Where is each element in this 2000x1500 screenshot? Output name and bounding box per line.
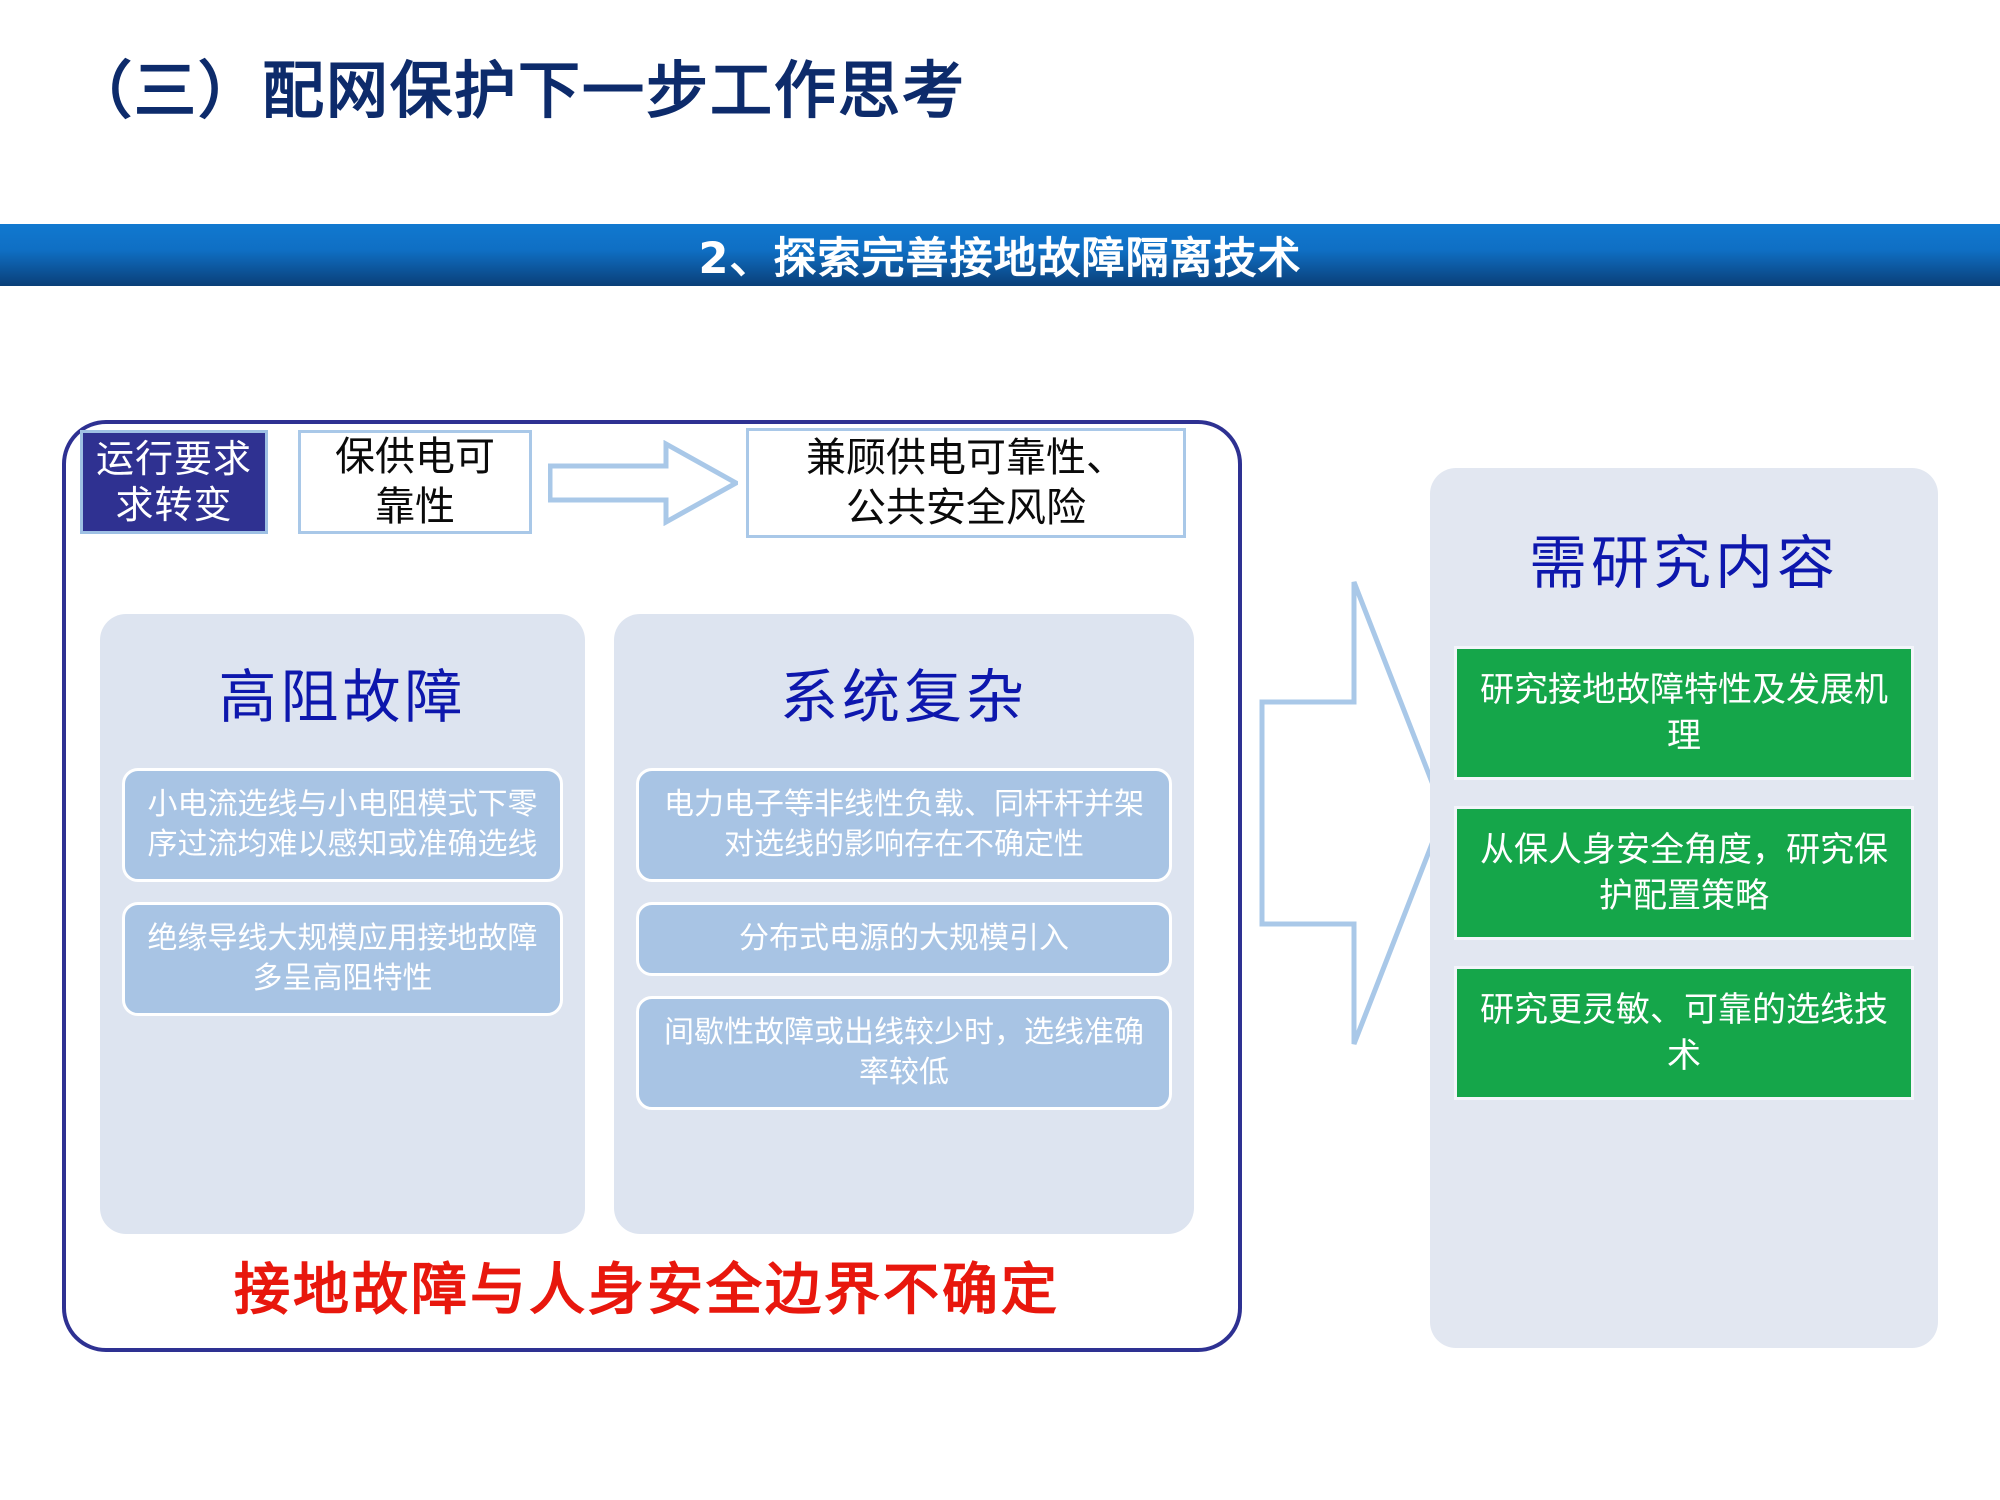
list-item: 小电流选线与小电阻模式下零序过流均难以感知或准确选线: [122, 768, 563, 882]
flow-target-box: 兼顾供电可靠性、 公共安全风险: [746, 428, 1186, 538]
list-item: 分布式电源的大规模引入: [636, 902, 1172, 976]
list-item: 间歇性故障或出线较少时，选线准确率较低: [636, 996, 1172, 1110]
section-banner-title: 2、探索完善接地故障隔离技术: [699, 224, 1302, 286]
research-content-items: 研究接地故障特性及发展机理 从保人身安全角度，研究保护配置策略 研究更灵敏、可靠…: [1430, 646, 1938, 1100]
operation-requirement-tag-line1: 运行要求: [96, 436, 252, 482]
conclusion-text: 接地故障与人身安全边界不确定: [100, 1244, 1194, 1326]
list-item: 绝缘导线大规模应用接地故障多呈高阻特性: [122, 902, 563, 1016]
section-banner: 2、探索完善接地故障隔离技术: [0, 224, 2000, 286]
flow-source-box: 保供电可 靠性: [298, 430, 532, 534]
research-content-container: 需研究内容 研究接地故障特性及发展机理 从保人身安全角度，研究保护配置策略 研究…: [1430, 468, 1938, 1348]
right-arrow-icon: [548, 440, 738, 526]
panel-high-impedance-fault: 高阻故障 小电流选线与小电阻模式下零序过流均难以感知或准确选线 绝缘导线大规模应…: [100, 614, 585, 1234]
operation-requirement-tag-line2: 求转变: [115, 482, 232, 528]
panel-title-high-impedance: 高阻故障: [100, 650, 585, 734]
page-title: （三）配网保护下一步工作思考: [70, 40, 966, 130]
flow-target-line2: 公共安全风险: [846, 483, 1086, 533]
list-item: 研究接地故障特性及发展机理: [1454, 646, 1914, 780]
list-item: 从保人身安全角度，研究保护配置策略: [1454, 806, 1914, 940]
list-item: 研究更灵敏、可靠的选线技术: [1454, 966, 1914, 1100]
operation-requirement-tag: 运行要求 求转变: [80, 430, 268, 534]
panel-items-high-impedance: 小电流选线与小电阻模式下零序过流均难以感知或准确选线 绝缘导线大规模应用接地故障…: [100, 768, 585, 1016]
panel-items-system-complexity: 电力电子等非线性负载、同杆杆并架对选线的影响存在不确定性 分布式电源的大规模引入…: [614, 768, 1194, 1110]
flow-source-line1: 保供电可: [335, 432, 495, 482]
flow-target-line1: 兼顾供电可靠性、: [806, 433, 1126, 483]
panel-title-system-complexity: 系统复杂: [614, 650, 1194, 734]
flow-source-line2: 靠性: [375, 482, 455, 532]
research-content-title: 需研究内容: [1430, 516, 1938, 600]
panel-system-complexity: 系统复杂 电力电子等非线性负载、同杆杆并架对选线的影响存在不确定性 分布式电源的…: [614, 614, 1194, 1234]
list-item: 电力电子等非线性负载、同杆杆并架对选线的影响存在不确定性: [636, 768, 1172, 882]
chevron-right-icon: [1258, 578, 1448, 1048]
